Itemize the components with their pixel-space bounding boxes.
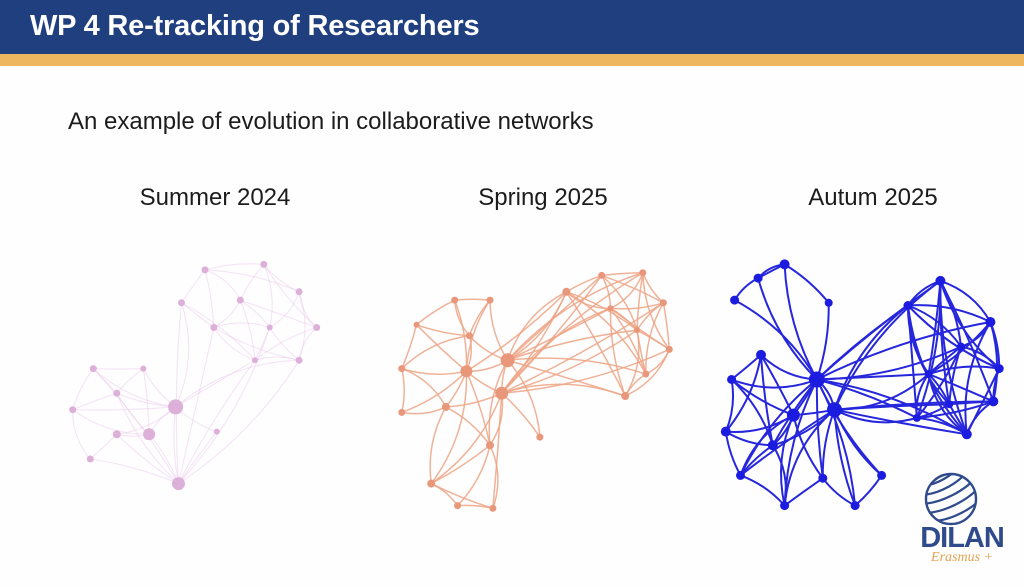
network-label-summer-2024: Summer 2024 <box>90 184 340 212</box>
header-bar: WP 4 Re-tracking of Researchers <box>0 0 1024 54</box>
globe-stripes-icon <box>922 470 980 528</box>
network-graph-summer-2024 <box>50 240 360 530</box>
header-accent-stripe <box>0 54 1024 66</box>
network-graph-spring-2025 <box>382 240 692 530</box>
dilan-logo: DILAN Erasmus + <box>906 470 1018 580</box>
logo-tagline: Erasmus + <box>906 550 1018 566</box>
page-title: WP 4 Re-tracking of Researchers <box>30 10 479 43</box>
network-label-autum-2025: Autum 2025 <box>748 184 998 212</box>
slide-canvas: WP 4 Re-tracking of Researchers An examp… <box>0 0 1024 587</box>
network-label-spring-2025: Spring 2025 <box>418 184 668 212</box>
slide-subtitle: An example of evolution in collaborative… <box>68 108 594 136</box>
